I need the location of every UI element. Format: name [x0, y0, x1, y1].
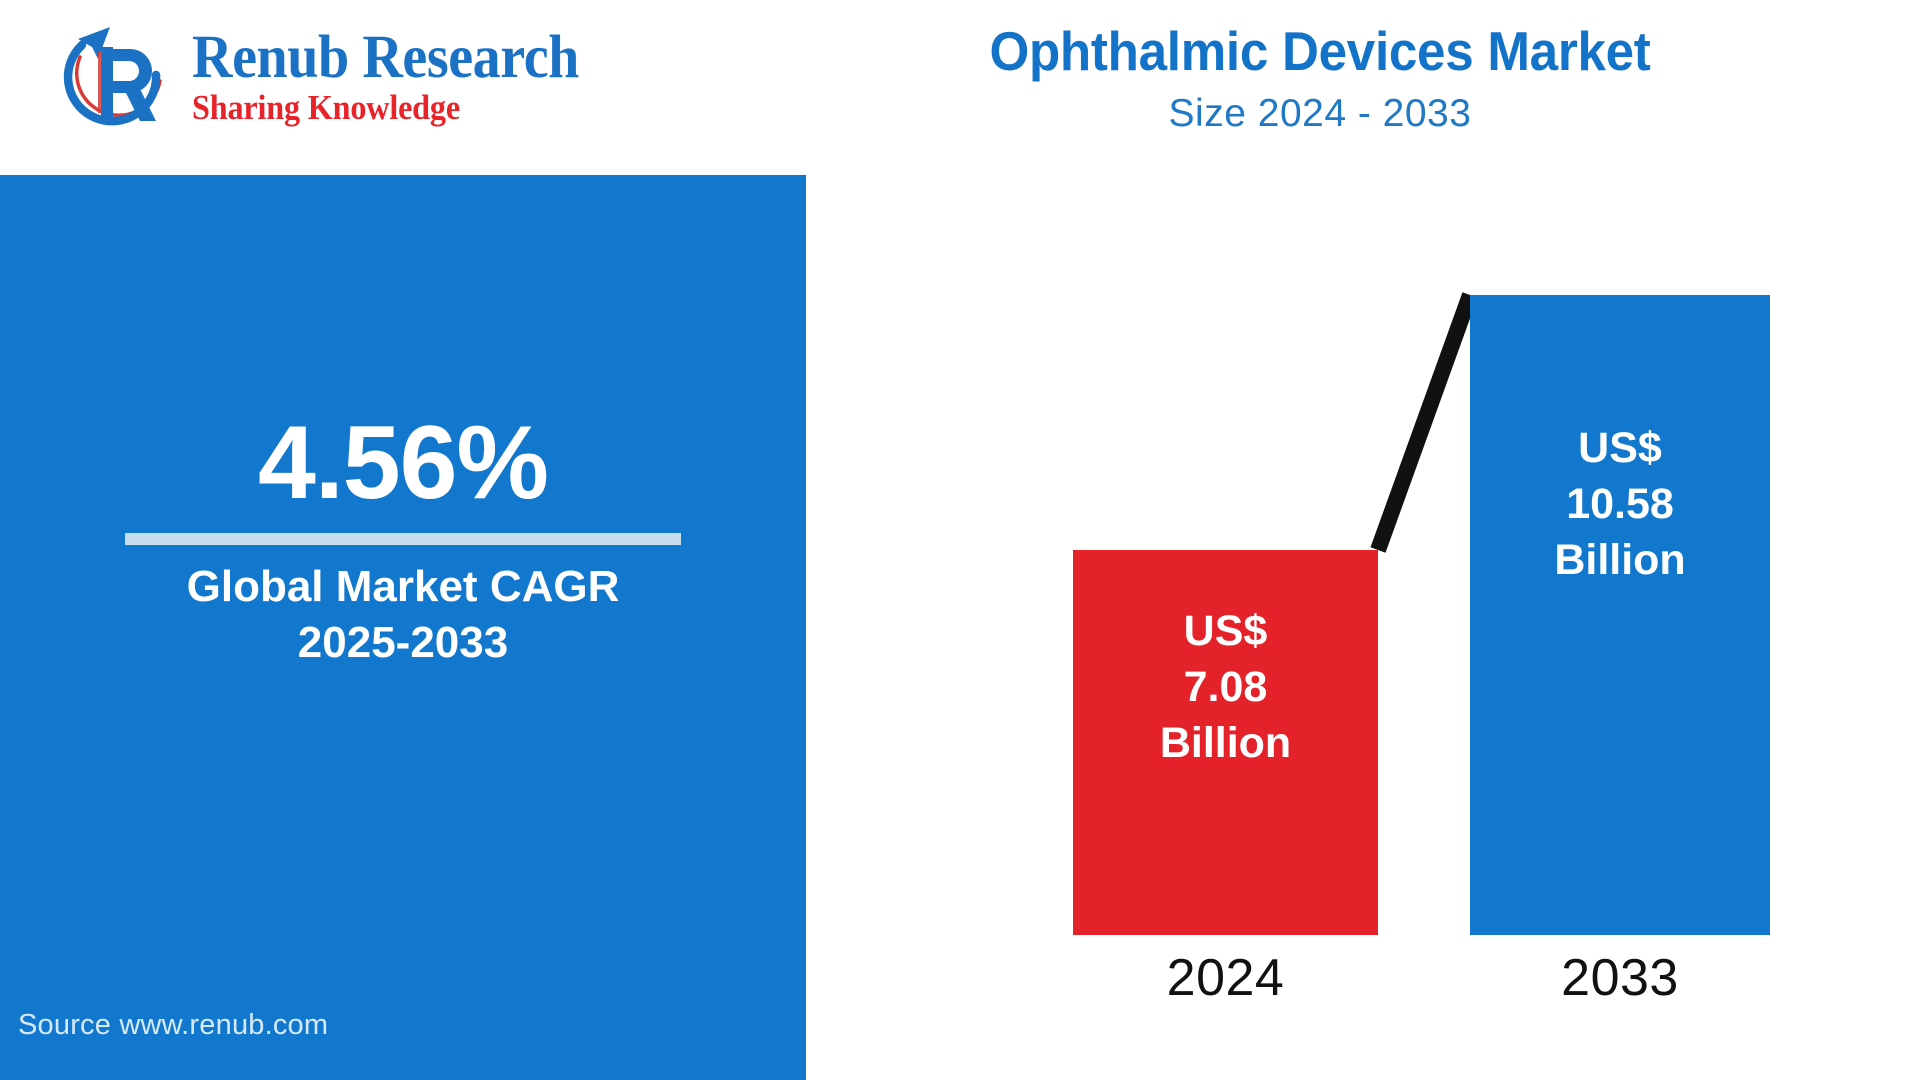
- axis-tick-2033: 2033: [1470, 948, 1770, 1008]
- bar-2033-label-unit: Billion: [1554, 533, 1685, 589]
- page-title: Ophthalmic Devices Market: [855, 22, 1785, 81]
- bar-2033-label-value: 10.58: [1566, 477, 1674, 533]
- cagr-value: 4.56%: [0, 411, 806, 515]
- bar-2033: US$ 10.58 Billion: [1470, 295, 1770, 935]
- bar-2024-label-currency: US$: [1184, 604, 1268, 660]
- brand-tagline: Sharing Knowledge: [192, 90, 579, 127]
- brand-logo: Renub Research Sharing Knowledge: [52, 14, 672, 139]
- axis-tick-2024: 2024: [1073, 948, 1378, 1008]
- brand-wordmark: Renub Research Sharing Knowledge: [192, 26, 613, 127]
- bar-2033-label-currency: US$: [1578, 421, 1662, 477]
- brand-name: Renub Research: [192, 28, 579, 88]
- source-label: Source www.renub.com: [18, 1009, 328, 1042]
- cagr-divider: [125, 533, 681, 545]
- bar-chart: US$ 7.08 Billion US$ 10.58 Billion 2024 …: [806, 160, 1920, 1080]
- page-subtitle: Size 2024 - 2033: [820, 89, 1820, 140]
- title-block: Ophthalmic Devices Market Size 2024 - 20…: [820, 22, 1820, 140]
- cagr-content: 4.56% Global Market CAGR 2025-2033: [0, 411, 806, 672]
- cagr-label-period: 2025-2033: [0, 615, 806, 671]
- bar-2024-label-unit: Billion: [1160, 716, 1291, 772]
- renub-r-arrow-logo-icon: [52, 17, 174, 137]
- cagr-label-primary: Global Market CAGR: [0, 559, 806, 615]
- bar-2024: US$ 7.08 Billion: [1073, 550, 1378, 935]
- bar-2024-label-value: 7.08: [1184, 660, 1268, 716]
- cagr-panel: 4.56% Global Market CAGR 2025-2033 Sourc…: [0, 175, 806, 1080]
